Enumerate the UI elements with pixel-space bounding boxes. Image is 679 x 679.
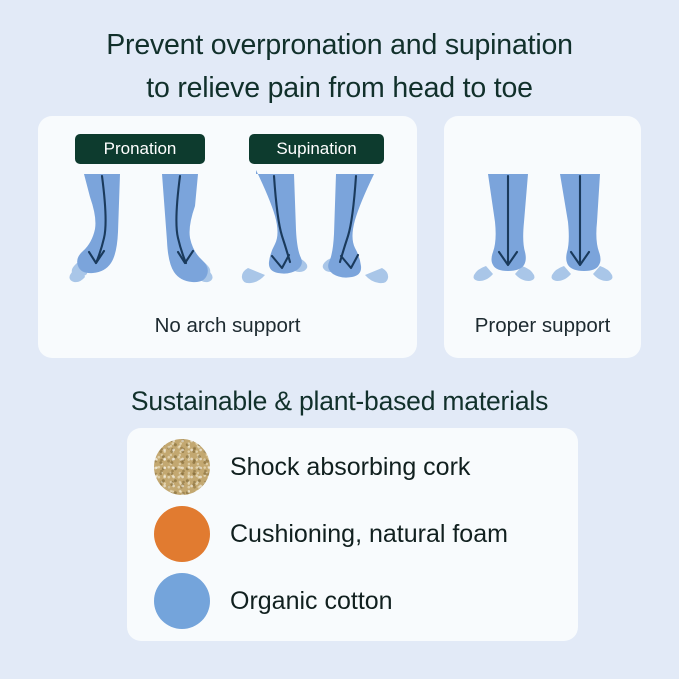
badge-pronation: Pronation bbox=[75, 134, 205, 164]
list-item: Cushioning, natural foam bbox=[154, 506, 508, 562]
page-title: Prevent overpronation and supination to … bbox=[0, 24, 679, 110]
material-label: Cushioning, natural foam bbox=[230, 519, 508, 549]
proper-left-leg bbox=[474, 174, 535, 281]
supination-right-leg bbox=[323, 174, 388, 283]
cork-swatch-icon bbox=[154, 439, 210, 495]
materials-card: Shock absorbing cork Cushioning, natural… bbox=[127, 428, 578, 641]
proper-support-legs-illustration bbox=[466, 170, 622, 292]
supination-left-leg bbox=[242, 170, 307, 283]
caption-no-arch-support: No arch support bbox=[38, 312, 417, 340]
pronation-right-leg bbox=[162, 174, 213, 282]
list-item: Shock absorbing cork bbox=[154, 439, 470, 495]
proper-right-leg bbox=[552, 174, 613, 281]
foam-swatch-icon bbox=[154, 506, 210, 562]
cotton-swatch-icon bbox=[154, 573, 210, 629]
badge-supination: Supination bbox=[249, 134, 384, 164]
material-label: Shock absorbing cork bbox=[230, 452, 470, 482]
infographic-canvas: Prevent overpronation and supination to … bbox=[0, 0, 679, 679]
list-item: Organic cotton bbox=[154, 573, 393, 629]
pronation-left-leg bbox=[70, 174, 121, 282]
headline-line-2: to relieve pain from head to toe bbox=[0, 67, 679, 110]
materials-heading: Sustainable & plant-based materials bbox=[0, 383, 679, 419]
supination-legs-illustration bbox=[236, 170, 394, 292]
headline-line-1: Prevent overpronation and supination bbox=[0, 24, 679, 67]
pronation-legs-illustration bbox=[62, 170, 220, 292]
caption-proper-support: Proper support bbox=[444, 312, 641, 340]
material-label: Organic cotton bbox=[230, 586, 393, 616]
